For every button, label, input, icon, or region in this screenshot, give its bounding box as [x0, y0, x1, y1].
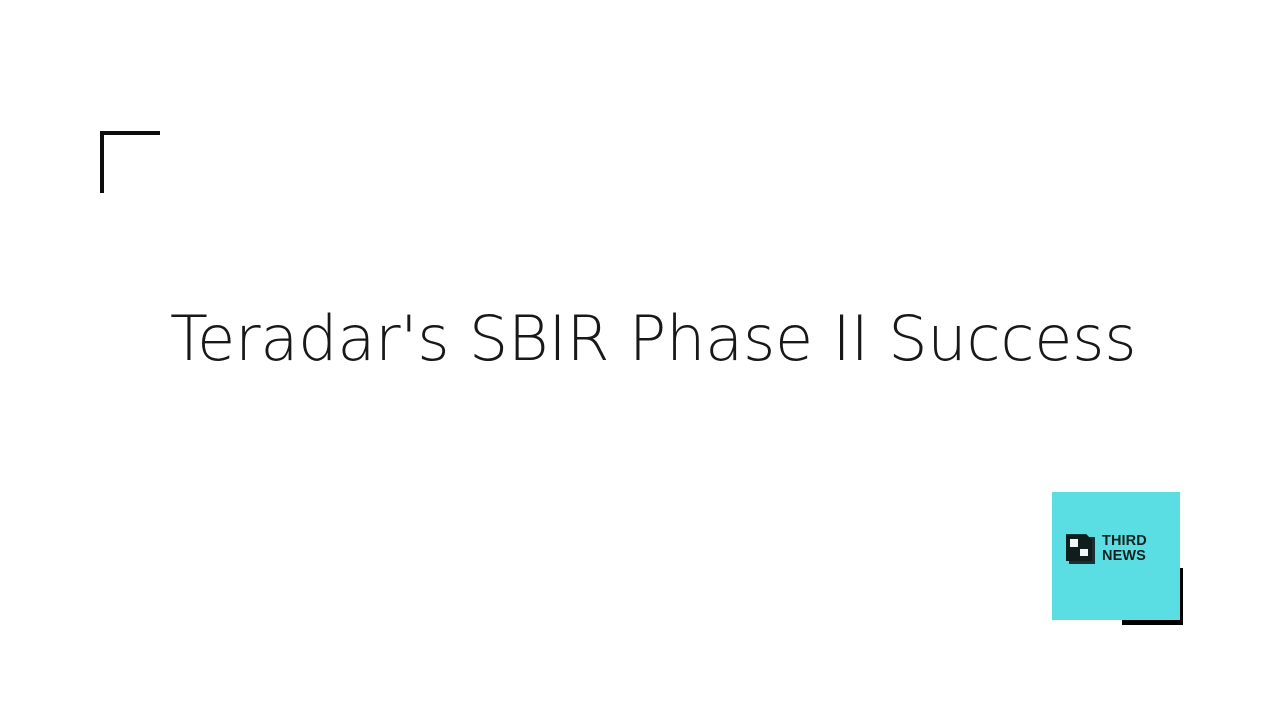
brand-wordmark: THIRD NEWS [1102, 534, 1147, 564]
brand-logo-tile: THIRD NEWS [1052, 492, 1180, 620]
brand-logo-lockup: THIRD NEWS [1066, 534, 1147, 564]
grid-cell [1070, 549, 1078, 557]
corner-bracket-top-left-icon [100, 131, 160, 193]
document-grid-icon [1066, 534, 1095, 564]
slide-title: Teradar's SBIR Phase II Success [170, 303, 1110, 375]
grid-cell [1080, 539, 1088, 547]
bracket-vertical-arm [100, 131, 104, 193]
grid-cell [1080, 549, 1088, 557]
document-grid-icon-cells [1070, 539, 1088, 556]
bracket-horizontal-arm [100, 131, 160, 135]
presentation-slide: Teradar's SBIR Phase II Success THIRD NE… [0, 0, 1280, 720]
grid-cell [1070, 539, 1078, 547]
